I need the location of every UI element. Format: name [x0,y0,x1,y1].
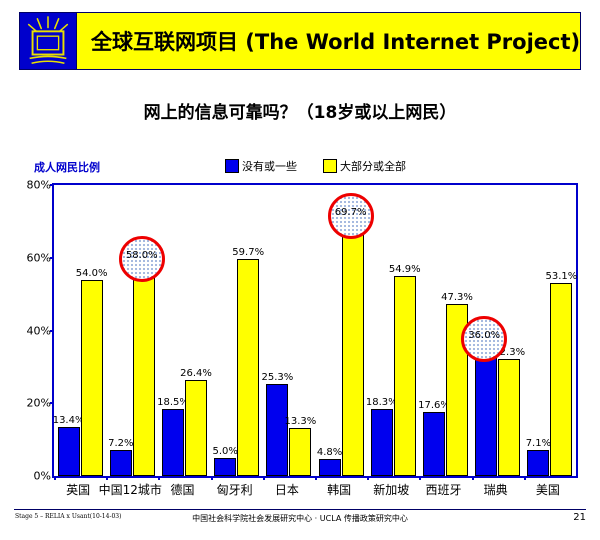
bar-value-label: 5.0% [212,446,237,457]
highlight-circle-36.0: 36.0% [461,316,507,362]
highlight-circle-69.7: 69.7% [328,193,374,239]
title-bar: 全球互联网项目 (The World Internet Project) [19,12,581,70]
bar-most-or-all[interactable]: 59.7% [237,259,259,476]
page-title: 全球互联网项目 (The World Internet Project) [91,26,580,56]
x-axis-label: 匈牙利 [217,481,253,498]
bar-group: 18.3%54.9% [367,185,419,476]
legend-item-0: 没有或一些 [225,158,297,174]
bar-no-or-some[interactable]: 18.5% [162,409,184,476]
bar-most-or-all[interactable]: 54.0% [81,280,103,476]
bar-most-or-all[interactable]: 32.3% [498,359,520,476]
x-tick-mark [367,476,369,480]
x-axis-label: 日本 [275,481,299,498]
bar-group: 7.2%58.0% [106,185,158,476]
x-axis-label: 新加坡 [373,481,409,498]
highlight-value-label: 58.0% [126,250,158,261]
x-tick-mark [106,476,108,480]
chart-subtitle: 网上的信息可靠吗？（18岁或以上网民） [0,98,600,123]
y-tick-label: 80% [27,179,51,192]
y-tick-label: 40% [27,324,51,337]
footer-divider [14,509,586,510]
bar-no-or-some[interactable]: 36.0% [475,345,497,476]
monitor-rays-icon [19,12,77,70]
bar-value-label: 25.3% [262,372,294,383]
x-axis-label: 西班牙 [425,481,461,498]
bar-no-or-some[interactable]: 18.3% [371,409,393,476]
bar-group: 7.1%53.1% [524,185,576,476]
bar-group: 18.5%26.4% [158,185,210,476]
bar-most-or-all[interactable]: 69.7% [342,222,364,476]
y-tick-label: 60% [27,251,51,264]
bar-most-or-all[interactable]: 13.3% [289,428,311,476]
bar-value-label: 59.7% [232,247,264,258]
x-axis-label: 中国12城市 [99,481,162,498]
x-tick-mark [315,476,317,480]
bar-most-or-all[interactable]: 53.1% [550,283,572,476]
bar-group: 25.3%13.3% [263,185,315,476]
bar-value-label: 54.0% [76,268,108,279]
bar-group: 5.0%59.7% [211,185,263,476]
x-axis-label: 美国 [536,481,560,498]
x-axis-label: 德国 [170,481,194,498]
legend-item-1: 大部分或全部 [323,158,406,174]
legend-swatch-blue [225,159,239,173]
legend-label-0: 没有或一些 [242,158,297,174]
chart-legend: 没有或一些 大部分或全部 [225,158,422,174]
x-tick-mark [524,476,526,480]
bar-no-or-some[interactable]: 4.8% [319,459,341,476]
x-tick-mark [472,476,474,480]
x-tick-mark [158,476,160,480]
bar-group: 13.4%54.0% [54,185,106,476]
bar-no-or-some[interactable]: 7.2% [110,450,132,476]
bar-no-or-some[interactable]: 25.3% [266,384,288,476]
x-axis-label: 英国 [66,481,90,498]
title-banner: 全球互联网项目 (The World Internet Project) [77,12,581,70]
x-axis-label: 韩国 [327,481,351,498]
bar-value-label: 13.3% [285,416,317,427]
highlight-value-label: 36.0% [468,330,500,341]
bar-most-or-all[interactable]: 58.0% [133,265,155,476]
bar-no-or-some[interactable]: 17.6% [423,412,445,476]
bar-no-or-some[interactable]: 5.0% [214,458,236,476]
highlight-circle-58.0: 58.0% [119,236,165,282]
x-tick-mark [419,476,421,480]
y-tick-label: 20% [27,397,51,410]
x-tick-mark [211,476,213,480]
bar-value-label: 53.1% [546,271,578,282]
bar-most-or-all[interactable]: 26.4% [185,380,207,476]
bar-value-label: 54.9% [389,264,421,275]
y-tick-label: 0% [34,470,51,483]
legend-swatch-yellow [323,159,337,173]
y-axis-title: 成人网民比例 [34,159,100,175]
bar-value-label: 47.3% [441,292,473,303]
bar-value-label: 4.8% [317,447,342,458]
footer-page-number: 21 [573,512,586,523]
highlight-value-label: 69.7% [335,207,367,218]
bar-no-or-some[interactable]: 7.1% [527,450,549,476]
footer-center-text: 中国社会科学院社会发展研究中心 · UCLA 传播政策研究中心 [0,513,600,524]
x-tick-mark [54,476,56,480]
legend-label-1: 大部分或全部 [340,158,406,174]
bar-no-or-some[interactable]: 13.4% [58,427,80,476]
bar-most-or-all[interactable]: 54.9% [394,276,416,476]
bar-value-label: 7.2% [108,438,133,449]
bar-value-label: 7.1% [526,438,551,449]
bar-value-label: 26.4% [180,368,212,379]
x-axis-label: 瑞典 [484,481,508,498]
x-tick-mark [263,476,265,480]
bar-chart: 成人网民比例 没有或一些 大部分或全部 0%20%40%60%80%13.4%5… [0,150,600,500]
